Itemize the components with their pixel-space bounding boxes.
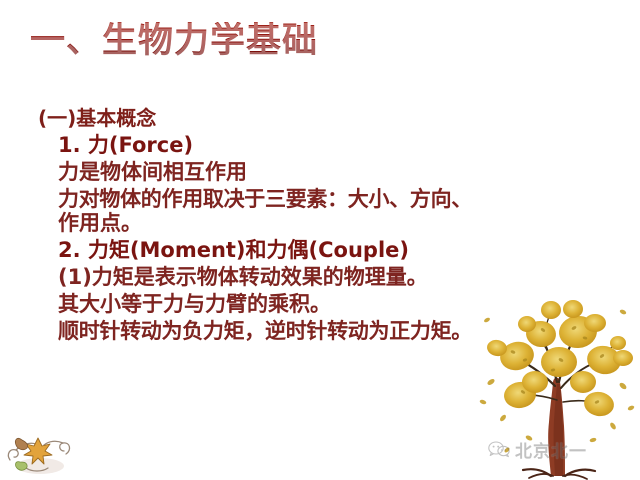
page-title: 一、生物力学基础 (30, 22, 318, 61)
wechat-watermark: 北京北一 (488, 437, 587, 462)
list-item: 力对物体的作用取决于三要素：大小、方向、 (0, 189, 640, 210)
list-item: (一)基本概念 (0, 108, 640, 128)
list-item: 顺时针转动为负力矩，逆时针转动为正力矩。 (0, 321, 640, 342)
wechat-icon (488, 441, 510, 458)
watermark-text: 北京北一 (515, 437, 587, 462)
list-item: 2. 力矩(Moment)和力偶(Couple) (0, 240, 640, 261)
slide-body: (一)基本概念 1. 力(Force) 力是物体间相互作用 力对物体的作用取决于… (0, 108, 640, 348)
list-item: 其大小等于力与力臂的乘积。 (0, 294, 640, 315)
autumn-leaf-cluster-icon (4, 424, 76, 476)
list-item: (1)力矩是表示物体转动效果的物理量。 (0, 267, 640, 288)
list-item: 1. 力(Force) (0, 135, 640, 156)
list-item: 力是物体间相互作用 (0, 162, 640, 183)
slide-canvas: 一、生物力学基础 (一)基本概念 1. 力(Force) 力是物体间相互作用 力… (0, 0, 640, 480)
list-item: 作用点。 (0, 213, 640, 234)
